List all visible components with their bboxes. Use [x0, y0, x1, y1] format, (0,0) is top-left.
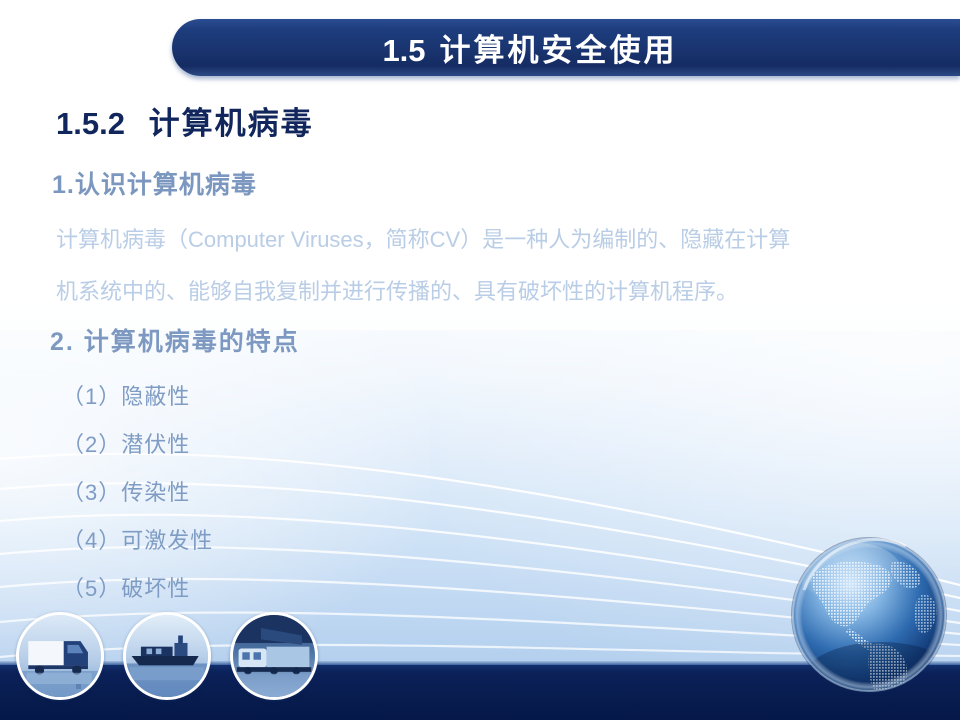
- feature-list: （1）隐蔽性 （2）潜伏性 （3）传染性 （4）可激发性 （5）破坏性: [62, 373, 462, 613]
- train-photo: [230, 612, 318, 700]
- ship-photo: [123, 612, 211, 700]
- truck-photo: [16, 612, 104, 700]
- section-title: 计算机病毒: [149, 106, 314, 141]
- subsection-heading-2: 2. 计算机病毒的特点: [50, 322, 300, 358]
- subsection-heading-1: 1.认识计算机病毒: [52, 165, 257, 201]
- title-banner: 1.5 计算机安全使用: [172, 19, 960, 76]
- list-item: （5）破坏性: [62, 565, 462, 613]
- slide-canvas: 1.5 计算机安全使用 1.5.2 计算机病毒 1.认识计算机病毒 计算机病毒（…: [0, 0, 960, 720]
- body-paragraph: 计算机病毒（Computer Viruses，简称CV）是一种人为编制的、隐藏在…: [56, 214, 936, 318]
- page-title: 1.5.2 计算机病毒: [56, 98, 314, 143]
- banner-number: 1.5: [382, 33, 425, 69]
- list-item: （1）隐蔽性: [62, 373, 462, 421]
- paragraph-line-1: 计算机病毒（Computer Viruses，简称CV）是一种人为编制的、隐藏在…: [56, 214, 936, 266]
- list-item: （3）传染性: [62, 469, 462, 517]
- pixel-artifact: [76, 684, 81, 689]
- list-item: （2）潜伏性: [62, 421, 462, 469]
- section-number: 1.5.2: [56, 106, 125, 141]
- list-item: （4）可激发性: [62, 517, 462, 565]
- title-banner-content: 1.5 计算机安全使用: [382, 25, 677, 70]
- banner-title: 计算机安全使用: [440, 25, 678, 70]
- paragraph-line-2: 机系统中的、能够自我复制并进行传播的、具有破坏性的计算机程序。: [56, 266, 936, 318]
- globe-graphic: [786, 532, 952, 698]
